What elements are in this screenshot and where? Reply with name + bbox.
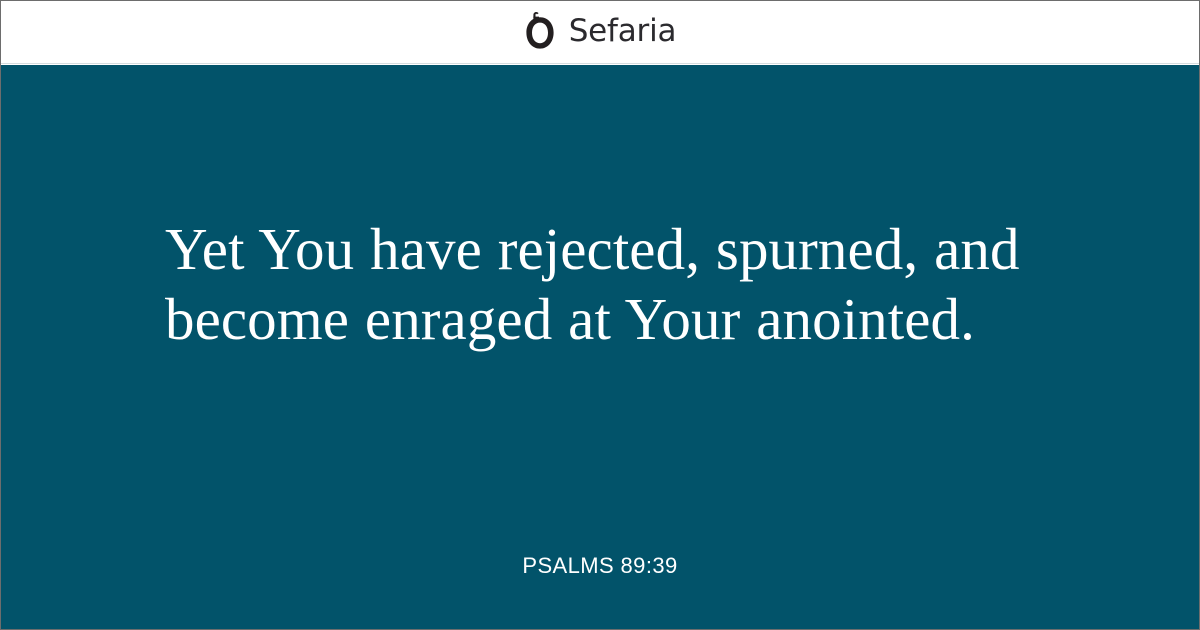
site-header: Sefaria bbox=[1, 1, 1199, 64]
sefaria-samekh-logo-icon bbox=[524, 11, 556, 51]
quote-stage: Yet You have rejected, spurned, and beco… bbox=[1, 65, 1199, 629]
quote-citation: PSALMS 89:39 bbox=[1, 555, 1199, 577]
quote-container: Yet You have rejected, spurned, and beco… bbox=[1, 65, 1199, 505]
sefaria-quote-card: Sefaria Yet You have rejected, spurned, … bbox=[0, 0, 1200, 630]
sefaria-brand-lockup[interactable]: Sefaria bbox=[524, 11, 677, 51]
quote-text: Yet You have rejected, spurned, and beco… bbox=[165, 215, 1035, 354]
brand-name: Sefaria bbox=[569, 16, 677, 47]
